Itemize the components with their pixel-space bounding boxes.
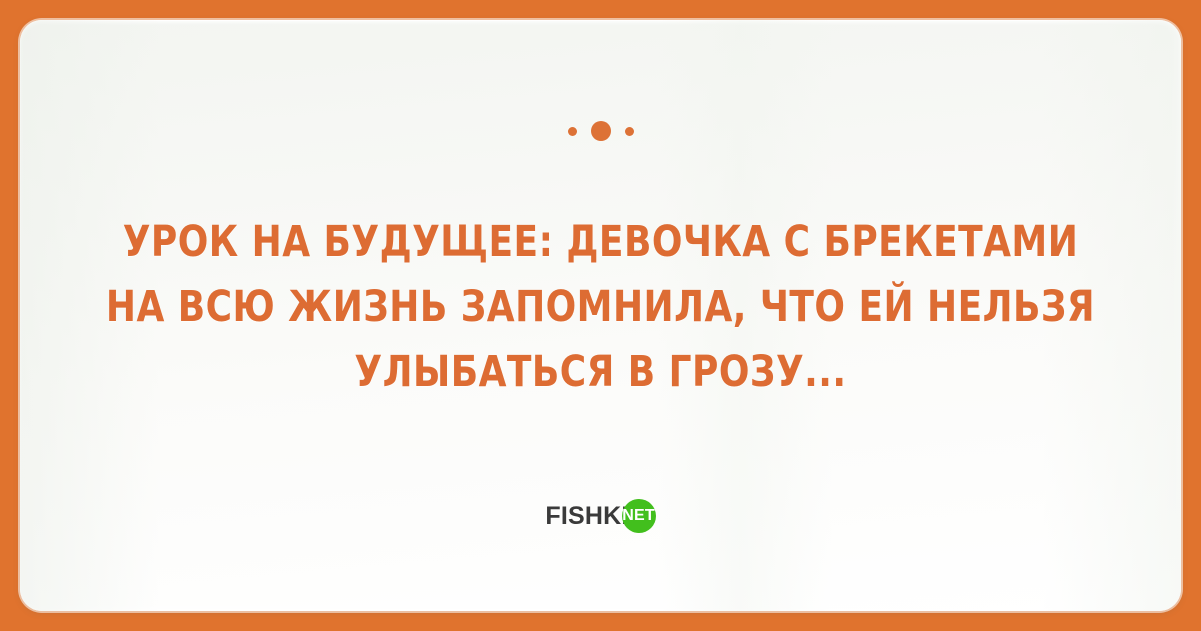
- quote-text: УРОК НА БУДУЩЕЕ: ДЕВОЧКА С БРЕКЕТАМИ НА …: [61, 210, 1141, 405]
- fishki-net-logo[interactable]: FISHKI NET: [20, 499, 1181, 533]
- orange-frame: УРОК НА БУДУЩЕЕ: ДЕВОЧКА С БРЕКЕТАМИ НА …: [0, 0, 1201, 631]
- logo-badge-label: NET: [622, 508, 655, 524]
- quote-line-3: УЛЫБАТЬСЯ В ГРОЗУ...: [61, 340, 1141, 405]
- divider-dot-right: [625, 127, 634, 136]
- quote-line-2: НА ВСЮ ЖИЗНЬ ЗАПОМНИЛА, ЧТО ЕЙ НЕЛЬЗЯ: [61, 275, 1141, 340]
- three-dots-divider: [568, 120, 634, 142]
- divider-dot-center: [591, 121, 611, 141]
- quote-line-1: УРОК НА БУДУЩЕЕ: ДЕВОЧКА С БРЕКЕТАМИ: [61, 210, 1141, 275]
- logo-wordmark: FISHKI: [545, 504, 628, 529]
- divider-dot-left: [568, 127, 577, 136]
- quote-card: УРОК НА БУДУЩЕЕ: ДЕВОЧКА С БРЕКЕТАМИ НА …: [20, 20, 1181, 611]
- logo-badge-circle: NET: [622, 499, 656, 533]
